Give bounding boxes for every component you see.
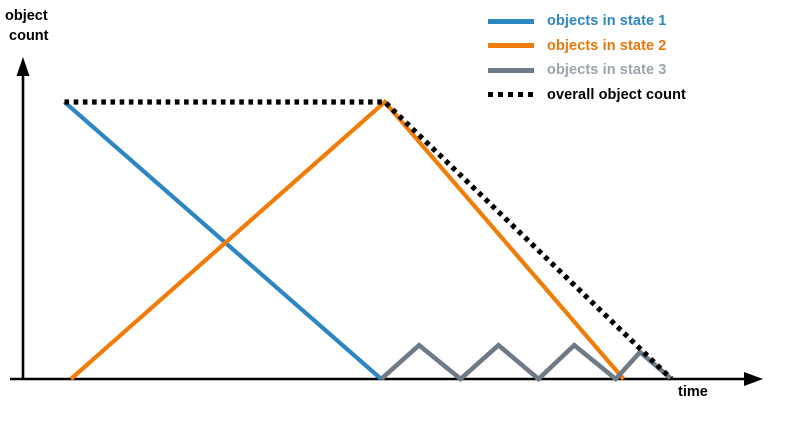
x-axis-title: time <box>678 383 708 403</box>
y-axis-arrowhead-icon <box>17 57 30 76</box>
x-axis-arrowhead-icon <box>744 372 763 386</box>
legend-item-objects-in-state-2[interactable]: objects in state 2 <box>488 34 788 59</box>
line-swatch-icon <box>488 12 534 30</box>
series-line-objects-in-state-3 <box>381 345 671 379</box>
y-axis <box>17 57 30 379</box>
legend-item-objects-in-state-3[interactable]: objects in state 3 <box>488 58 788 83</box>
y-axis-title: object count <box>5 7 49 46</box>
legend-item-objects-in-state-1[interactable]: objects in state 1 <box>488 9 788 34</box>
legend-item-label: objects in state 3 <box>547 62 666 78</box>
line-swatch-icon <box>488 37 534 55</box>
series-line-objects-in-state-1 <box>64 102 381 379</box>
legend-item-label: objects in state 1 <box>547 13 666 29</box>
series-line-objects-in-state-2 <box>71 102 624 379</box>
legend-item-label: overall object count <box>547 87 686 103</box>
series-line-overall-object-count <box>64 102 671 379</box>
line-swatch-icon <box>488 61 534 79</box>
dotted-line-swatch-icon <box>488 86 534 104</box>
chart-container: object count time objects in state 1 obj… <box>0 0 803 438</box>
legend-item-overall-object-count[interactable]: overall object count <box>488 83 788 108</box>
legend: objects in state 1 objects in state 2 ob… <box>488 9 788 107</box>
legend-item-label: objects in state 2 <box>547 38 666 54</box>
